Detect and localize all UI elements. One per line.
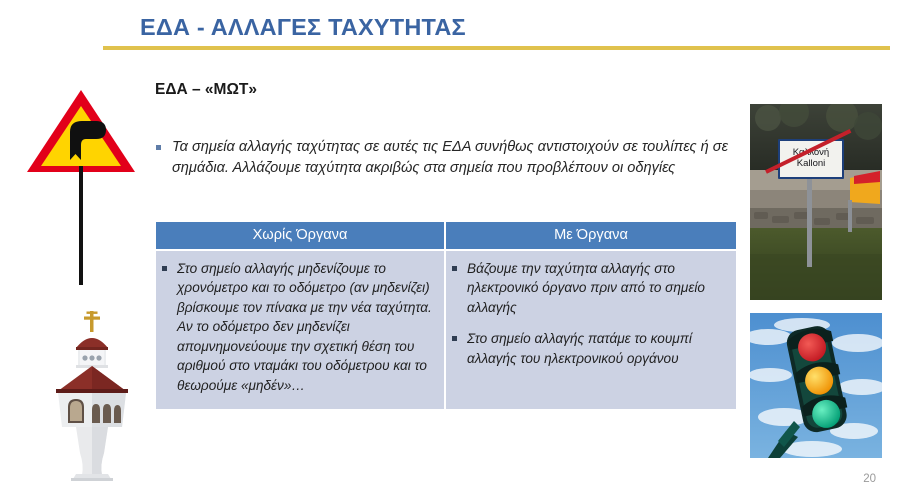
square-bullet-icon [452,336,457,341]
list-item: Στο σημείο αλλαγής μηδενίζουμε το χρονόμ… [162,259,434,395]
page-number: 20 [863,473,876,485]
sign-pole [79,166,83,285]
table-row: Στο σημείο αλλαγής μηδενίζουμε το χρονόμ… [156,250,736,409]
sign-text-latin: Kalloni [797,159,826,170]
table-header-row: Χωρίς Όργανα Με Όργανα [156,222,736,250]
square-bullet-icon [452,266,457,271]
cell-without-instruments: Στο σημείο αλλαγής μηδενίζουμε το χρονόμ… [156,250,445,409]
kalloni-exit-sign-photo: Καλλονή Kalloni [750,104,882,300]
list-item-text: Στο σημείο αλλαγής πατάμε το κουμπί αλλα… [467,329,726,368]
square-bullet-icon [156,145,161,150]
intro-bullet-item: Τα σημεία αλλαγής ταχύτητας σε αυτές τις… [156,137,746,178]
column-header-without-instruments: Χωρίς Όργανα [156,222,445,250]
photo-background [750,104,882,300]
section-subtitle: ΕΔΑ – «ΜΩΤ» [155,81,257,99]
list-item: Στο σημείο αλλαγής πατάμε το κουμπί αλλα… [452,329,726,368]
list-item-text: Στο σημείο αλλαγής μηδενίζουμε το χρονόμ… [177,259,434,395]
bend-to-right-warning-sign-icon [26,88,138,285]
column-header-with-instruments: Με Όργανα [445,222,736,250]
list-item-text: Βάζουμε την ταχύτητα αλλαγής στο ηλεκτρο… [467,259,726,317]
traffic-light-photo [750,313,882,458]
square-bullet-icon [162,266,167,271]
intro-bullet-text: Τα σημεία αλλαγής ταχύτητας σε αυτές τις… [172,137,746,178]
title-divider [103,46,890,50]
list-item: Βάζουμε την ταχύτητα αλλαγής στο ηλεκτρο… [452,259,726,317]
roadside-shrine-icon [30,303,154,481]
page-title: ΕΔΑ - ΑΛΛΑΓΕΣ ΤΑΧΥΤΗΤΑΣ [140,14,840,41]
comparison-table: Χωρίς Όργανα Με Όργανα Στο σημείο αλλαγή… [156,222,736,409]
slide-canvas: ΕΔΑ - ΑΛΛΑΓΕΣ ΤΑΧΥΤΗΤΑΣ ΕΔΑ – «ΜΩΤ» Τα σ… [0,0,900,503]
cell-with-instruments: Βάζουμε την ταχύτητα αλλαγής στο ηλεκτρο… [445,250,736,409]
